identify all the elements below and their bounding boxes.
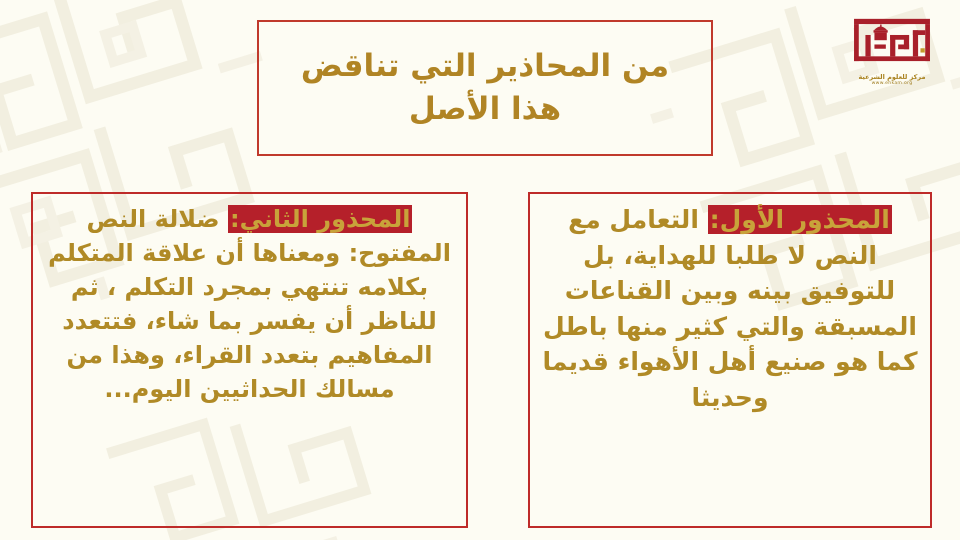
slide-title-box: من المحاذير التي تناقض هذا الأصل — [257, 20, 713, 156]
mahzur-awwal-body: التعامل مع النص لا طلبا للهداية، بل للتو… — [543, 205, 918, 412]
logo-url: www.ehkam.org — [840, 81, 944, 87]
content-box-mahzur-awwal: المحذور الأول: التعامل مع النص لا طلبا ل… — [528, 192, 932, 528]
slide-canvas: من المحاذير التي تناقض هذا الأصل — [0, 0, 960, 540]
content-box-mahzur-thani: المحذور الثاني: ضلالة النص المفتوح: ومعن… — [31, 192, 468, 528]
brand-logo: مركز للعلوم الشرعية www.ehkam.org — [840, 16, 944, 94]
mahzur-awwal-text: المحذور الأول: التعامل مع النص لا طلبا ل… — [540, 202, 920, 415]
mahzur-awwal-heading: المحذور الأول: — [708, 205, 892, 234]
mahzur-thani-heading: المحذور الثاني: — [228, 205, 413, 233]
ihkam-logo-icon — [844, 16, 940, 72]
mahzur-thani-body: ضلالة النص المفتوح: ومعناها أن علاقة الم… — [48, 205, 451, 403]
mahzur-thani-text: المحذور الثاني: ضلالة النص المفتوح: ومعن… — [43, 202, 456, 406]
page-title: من المحاذير التي تناقض هذا الأصل — [259, 45, 711, 131]
logo-subtitle: مركز للعلوم الشرعية — [840, 73, 944, 81]
